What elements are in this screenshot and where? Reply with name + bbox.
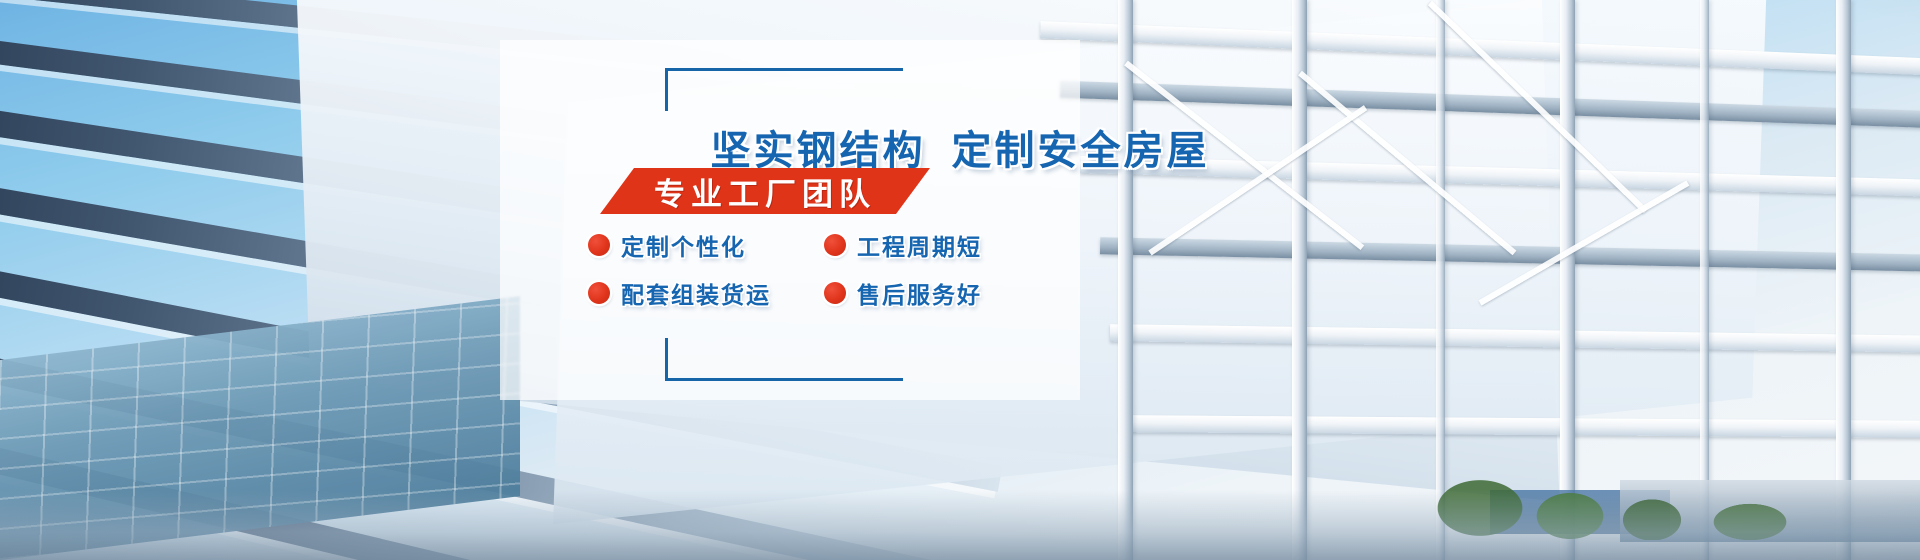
- red-dot-icon: [588, 282, 610, 304]
- feature-list: 定制个性化 工程周期短 配套组装货运 售后服务好: [588, 228, 1068, 310]
- decorative-bracket-top-left: [665, 68, 903, 111]
- red-dot-icon: [824, 234, 846, 256]
- feature-item: 工程周期短: [824, 228, 1034, 262]
- feature-item: 定制个性化: [588, 228, 798, 262]
- feature-label: 售后服务好: [857, 276, 982, 310]
- red-dot-icon: [588, 234, 610, 256]
- feature-item: 售后服务好: [824, 276, 1034, 310]
- feature-label: 工程周期短: [857, 228, 982, 262]
- feature-label: 配套组装货运: [621, 276, 771, 310]
- decorative-bracket-bottom-left: [665, 338, 903, 381]
- ribbon-banner: 专业工厂团队: [0, 168, 1920, 214]
- feature-label: 定制个性化: [621, 228, 746, 262]
- ribbon-label: 专业工厂团队: [600, 168, 930, 214]
- red-dot-icon: [824, 282, 846, 304]
- hero-banner: 坚实钢结构定制安全房屋 专业工厂团队 定制个性化 工程周期短 配套组装货运 售后…: [0, 0, 1920, 560]
- feature-item: 配套组装货运: [588, 276, 798, 310]
